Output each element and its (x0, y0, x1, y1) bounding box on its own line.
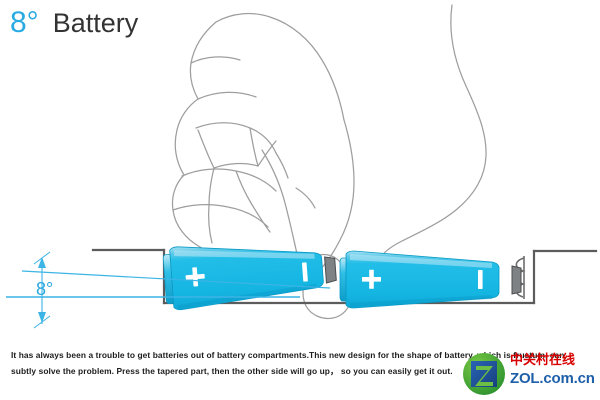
illustration-canvas (0, 0, 600, 400)
tapered-battery-front (162, 235, 337, 310)
page-title: 8° Battery (10, 8, 138, 38)
tapered-battery-rear (340, 251, 521, 308)
angle-label: 8° (36, 280, 53, 298)
title-angle-value: 8° (10, 8, 39, 38)
zol-chinese-text: 中关村在线 (510, 354, 575, 367)
title-label: Battery (53, 10, 139, 37)
zol-logo-icon (462, 352, 506, 396)
zol-watermark: 中关村在线 ZOL.com.cn (462, 352, 594, 396)
battery-design-illustration: 8° Battery 8° It has always been a troub… (0, 0, 600, 400)
zol-url-text: ZOL.com.cn (510, 371, 595, 386)
